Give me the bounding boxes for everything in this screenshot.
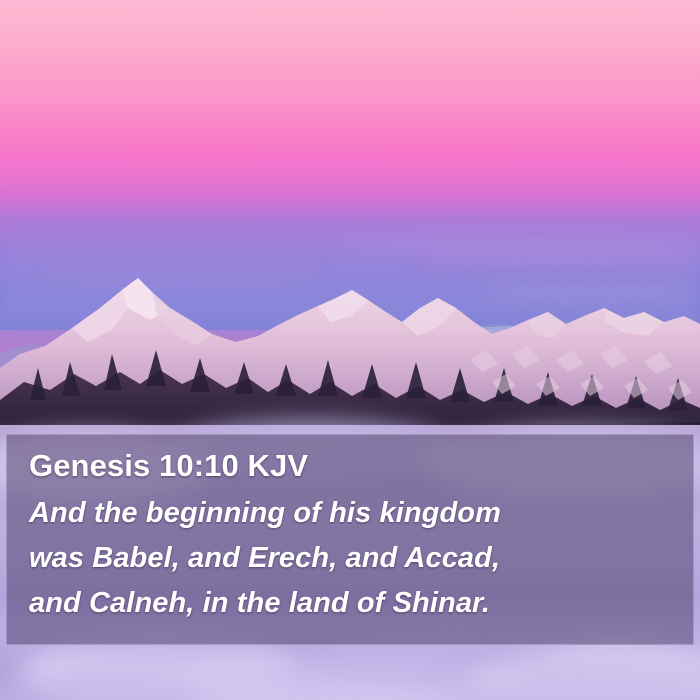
- verse-overlay-panel: Genesis 10:10 KJV And the beginning of h…: [6, 434, 694, 645]
- verse-text-line: was Babel, and Erech, and Accad,: [29, 536, 671, 581]
- verse-reference: Genesis 10:10 KJV: [29, 445, 671, 487]
- verse-text-line: and Calneh, in the land of Shinar.: [29, 581, 671, 626]
- verse-text: And the beginning of his kingdom was Bab…: [29, 491, 671, 626]
- verse-image: Genesis 10:10 KJV And the beginning of h…: [0, 0, 700, 700]
- verse-text-line: And the beginning of his kingdom: [29, 491, 671, 536]
